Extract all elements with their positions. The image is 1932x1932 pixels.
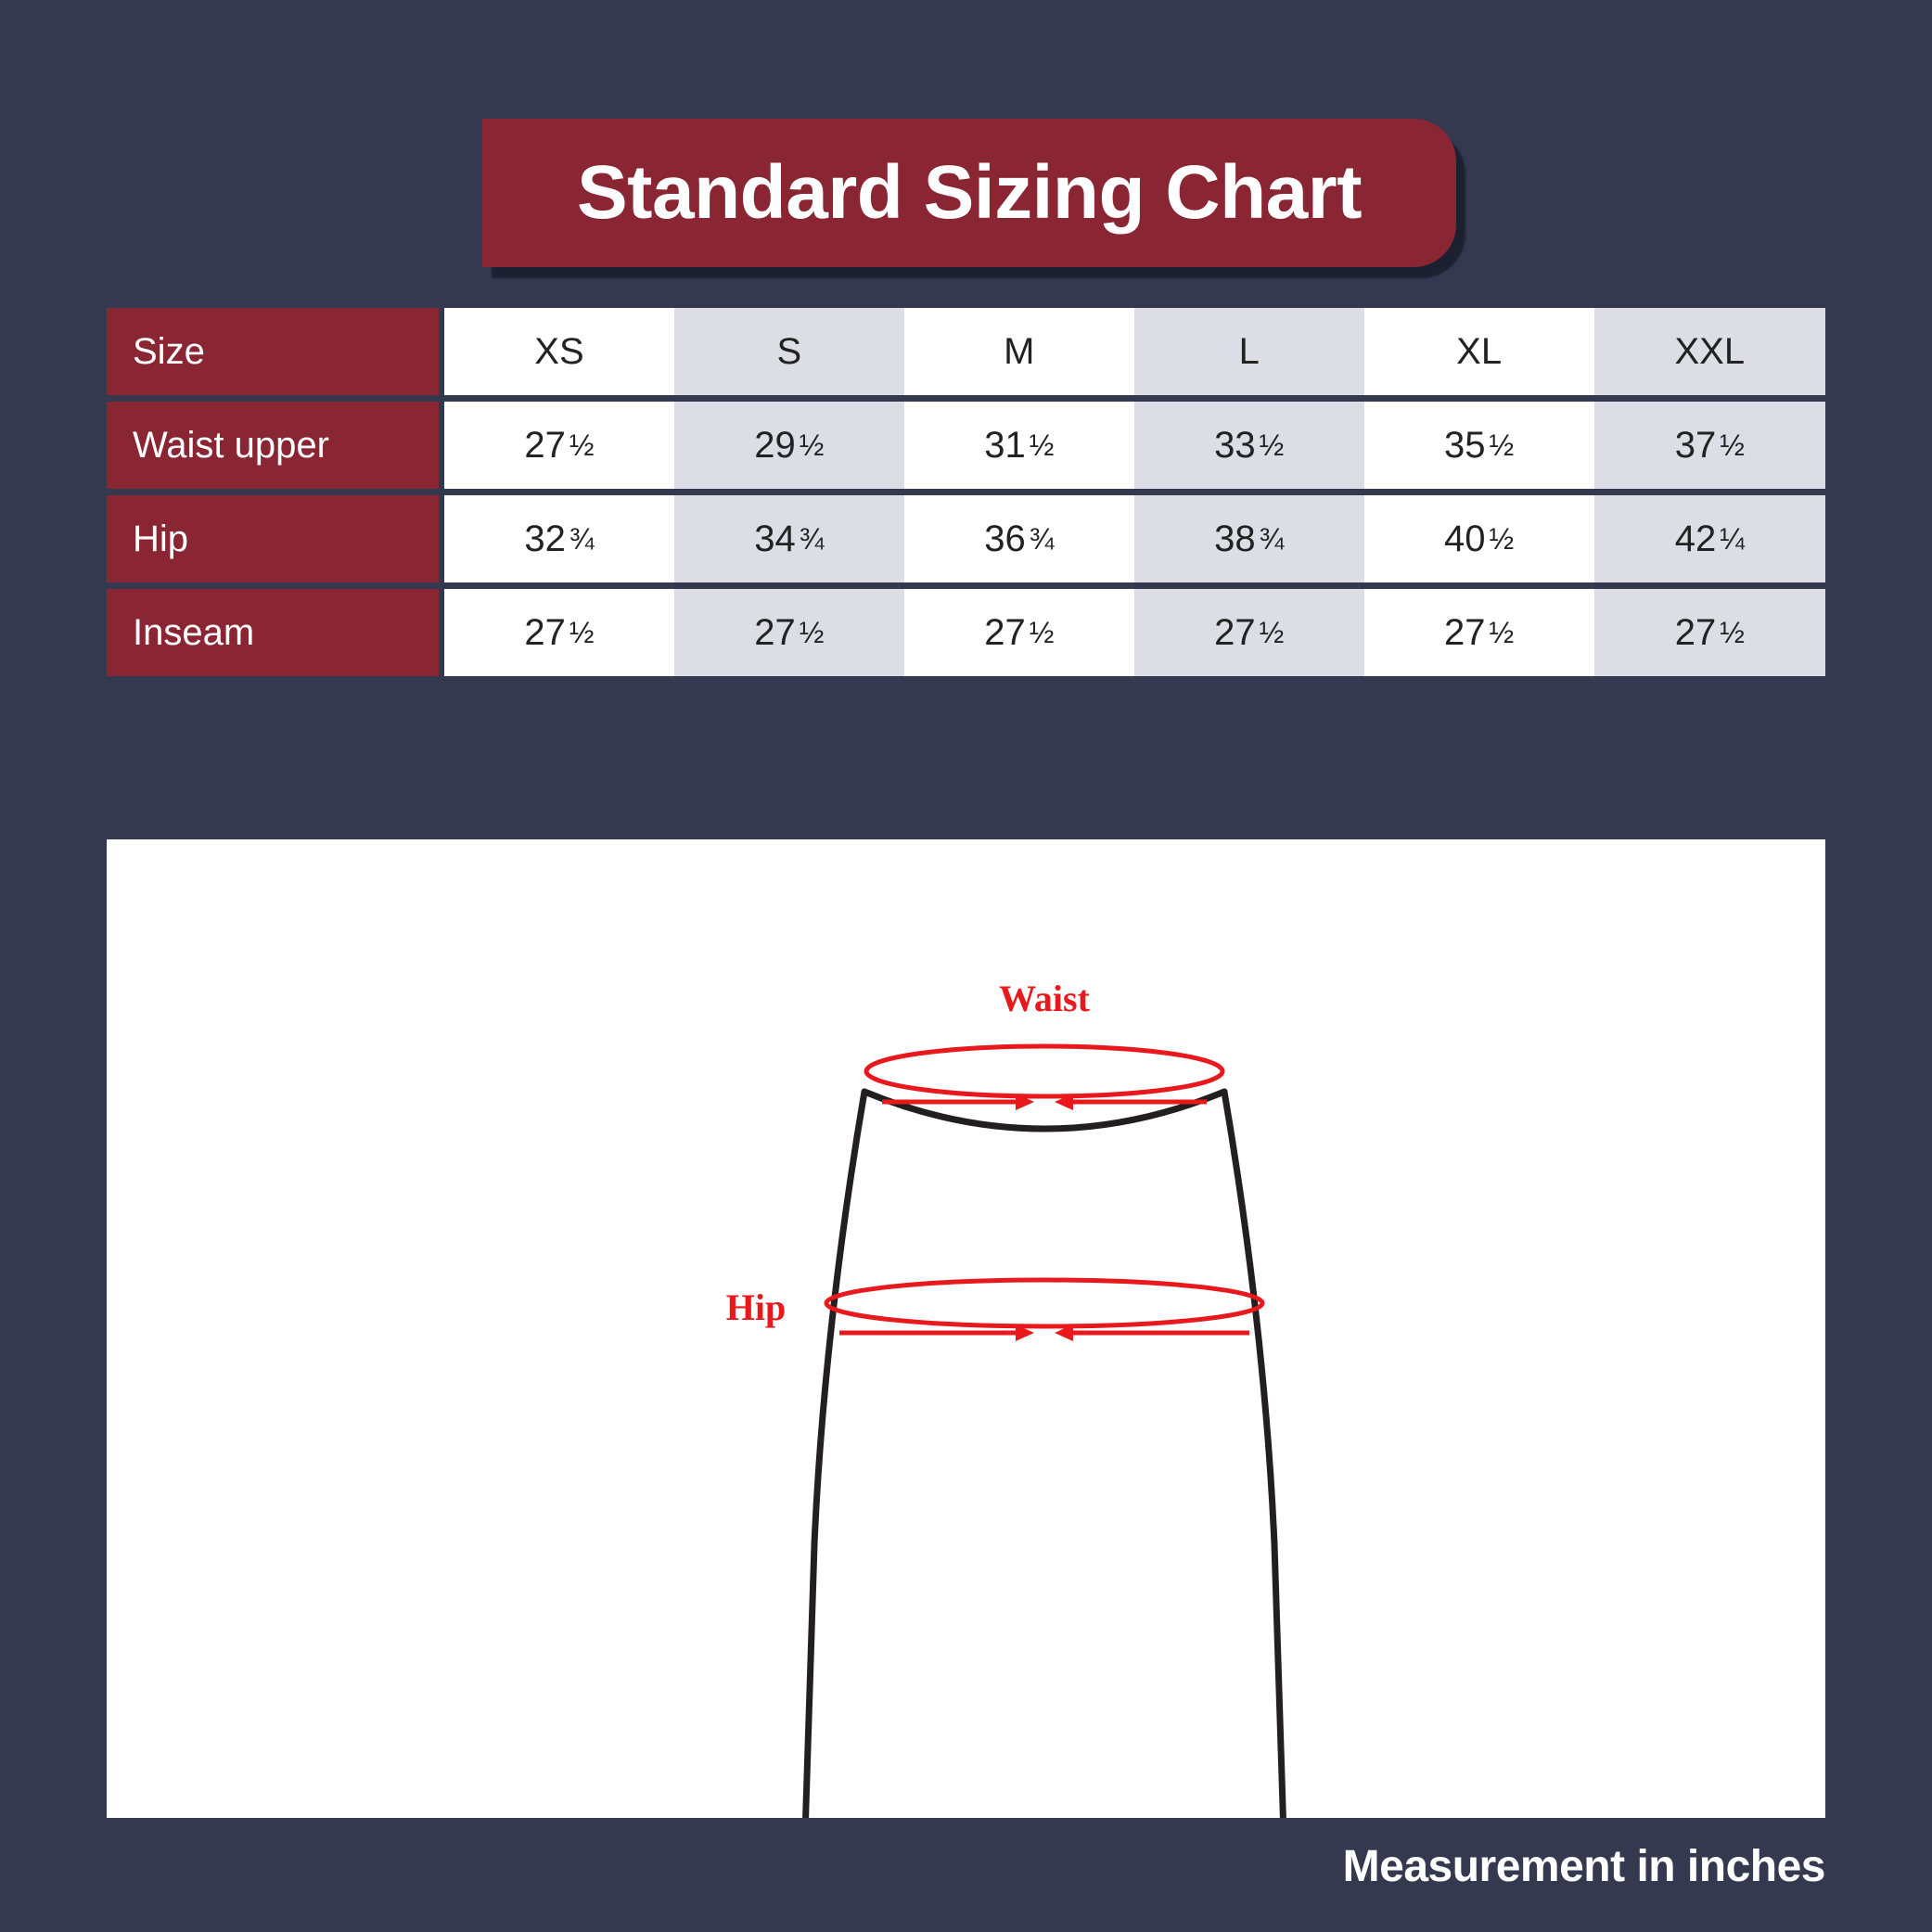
fraction-glyph: ½ [800, 616, 825, 649]
table-row-label: Waist upper [107, 402, 439, 489]
table-cell: 36¾ [904, 495, 1134, 582]
table-cell: 29½ [674, 402, 904, 489]
page-title: Standard Sizing Chart [577, 149, 1362, 237]
table-cell: 38¾ [1134, 495, 1364, 582]
fraction-glyph: ½ [1030, 616, 1055, 649]
table-row-label: Size [107, 308, 439, 395]
table-cell: 27½ [444, 402, 674, 489]
pants-outline-icon [800, 1092, 1288, 1818]
table-cell: 27½ [1134, 589, 1364, 676]
fraction-glyph: ½ [1490, 616, 1515, 649]
pants-measurement-diagram: Waist Hip Inseam [107, 839, 1825, 1818]
table-cell: 27½ [1594, 589, 1825, 676]
waist-label: Waist [999, 978, 1090, 1019]
fraction-glyph: ¾ [1260, 522, 1285, 556]
table-cell: 27½ [674, 589, 904, 676]
table-cell: 27½ [444, 589, 674, 676]
table-row-label: Hip [107, 495, 439, 582]
table-cell: 34¾ [674, 495, 904, 582]
table-row: Inseam27½27½27½27½27½27½ [107, 589, 1825, 676]
table-column-header: XXL [1594, 308, 1825, 395]
fraction-glyph: ¾ [569, 522, 595, 556]
table-cell: 33½ [1134, 402, 1364, 489]
hip-label: Hip [726, 1286, 786, 1328]
fraction-glyph: ½ [1260, 616, 1285, 649]
table-row: Waist upper27½29½31½33½35½37½ [107, 402, 1825, 489]
title-banner-wrap: Standard Sizing Chart [482, 119, 1456, 267]
fraction-glyph: ¾ [1030, 522, 1055, 556]
fraction-glyph: ½ [1260, 429, 1285, 462]
fraction-glyph: ½ [569, 616, 595, 649]
fraction-glyph: ½ [1720, 429, 1745, 462]
table-header-row: SizeXSSMLXLXXL [107, 308, 1825, 395]
waist-measure-annotation: Waist [866, 978, 1222, 1110]
table-column-header: L [1134, 308, 1364, 395]
measurement-unit-note: Measurement in inches [1343, 1841, 1825, 1892]
table-row: Hip32¾34¾36¾38¾40½42¼ [107, 495, 1825, 582]
fraction-glyph: ½ [800, 429, 825, 462]
fraction-glyph: ½ [569, 429, 595, 462]
fraction-glyph: ½ [1720, 616, 1745, 649]
table-cell: 42¼ [1594, 495, 1825, 582]
fraction-glyph: ½ [1490, 522, 1515, 556]
hip-measure-annotation: Hip [726, 1280, 1262, 1341]
sizing-table: SizeXSSMLXLXXLWaist upper27½29½31½33½35½… [107, 301, 1825, 683]
fraction-glyph: ½ [1490, 429, 1515, 462]
table-cell: 40½ [1364, 495, 1594, 582]
fraction-glyph: ¼ [1720, 522, 1745, 556]
table-cell: 31½ [904, 402, 1134, 489]
waist-ellipse-icon [866, 1046, 1222, 1096]
table-cell: 27½ [904, 589, 1134, 676]
fraction-glyph: ½ [1030, 429, 1055, 462]
table-column-header: S [674, 308, 904, 395]
table-cell: 27½ [1364, 589, 1594, 676]
hip-ellipse-icon [826, 1280, 1262, 1326]
fraction-glyph: ¾ [800, 522, 825, 556]
table-column-header: XL [1364, 308, 1594, 395]
table-column-header: M [904, 308, 1134, 395]
table-cell: 35½ [1364, 402, 1594, 489]
table-cell: 37½ [1594, 402, 1825, 489]
title-banner: Standard Sizing Chart [482, 119, 1456, 267]
table-column-header: XS [444, 308, 674, 395]
table-row-label: Inseam [107, 589, 439, 676]
diagram-panel: Waist Hip Inseam [107, 839, 1825, 1818]
table-cell: 32¾ [444, 495, 674, 582]
